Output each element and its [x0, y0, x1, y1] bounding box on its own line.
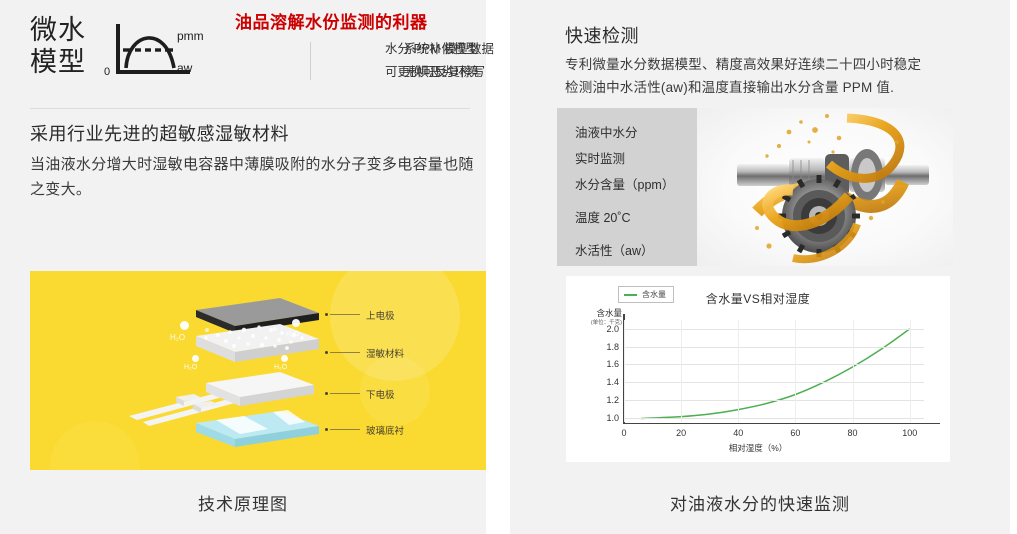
chart-y-tick: 1.0: [606, 413, 619, 423]
h2o-label: H₂O: [170, 333, 185, 342]
spec-item-3: 水分含量（ppm）: [575, 172, 735, 198]
header-divider: [30, 108, 470, 109]
headline-text: 油品溶解水份监测的利器: [235, 12, 497, 34]
chart-gridline: [624, 382, 924, 383]
left-section-title: 采用行业先进的超敏感湿敏材料: [30, 120, 480, 148]
feature-grid: 水分 PPM 模型数据 系统补偿模型 可更换可反复檫写 无惧恶劣环境: [235, 40, 497, 82]
right-section-title: 快速检测: [565, 22, 985, 50]
figure-label-1: 上电极: [366, 308, 395, 322]
chart-x-tick: 20: [676, 428, 686, 438]
chart-gridline: [624, 400, 924, 401]
chart-x-tick: 80: [848, 428, 858, 438]
feature-1-right: 系统补偿模型: [386, 40, 496, 59]
water-bubble: [273, 327, 277, 331]
chart-gridline-vertical: [738, 320, 739, 422]
chart-x-tick: 100: [902, 428, 917, 438]
left-section-text: 当油液水分增大时湿敏电容器中薄膜吸附的水分子变多电容量也随之变大。: [30, 152, 480, 202]
chart-y-tick: 1.2: [606, 395, 619, 405]
spec-item-5: 水活性（aw）: [575, 238, 735, 264]
logo-bottom-label: aw: [177, 61, 193, 75]
water-bubble: [205, 328, 209, 332]
chart-gridline: [624, 364, 924, 365]
h2o-label: H₂O: [184, 364, 197, 371]
left-caption: 技术原理图: [0, 490, 486, 515]
chart-x-tick: 0: [621, 428, 626, 438]
left-panel: 微水 模型 pmm aw 0 油品溶解水份监测的利器: [0, 0, 486, 534]
chart-plot-area: 1.01.21.41.61.82.0020406080100: [624, 320, 924, 422]
spec-item-4: 温度 20˚C: [575, 205, 735, 231]
water-bubble: [180, 321, 189, 330]
micro-water-model-curve-icon: pmm aw 0: [102, 22, 210, 84]
legend-swatch-icon: [624, 294, 637, 296]
chart-legend: 含水量: [618, 286, 674, 303]
logo-origin-label: 0: [104, 66, 110, 78]
chart-y-axis-title: 含水量: [596, 308, 622, 318]
right-header: 快速检测 专利微量水分数据模型、精度高效果好连续二十四小时稳定 检测油中水活性(…: [565, 22, 985, 99]
chart-y-tick: 1.6: [606, 359, 619, 369]
water-bubble: [281, 355, 288, 362]
figure-label-4: 玻璃底衬: [366, 423, 404, 437]
chart-gridline: [624, 347, 924, 348]
chart-gridline-vertical: [910, 320, 911, 422]
spec-item-1: 油液中水分: [575, 120, 735, 146]
chart-y-tick: 2.0: [606, 324, 619, 334]
layer-sensing-material: [196, 324, 319, 362]
sensor-layer-exploded-diagram: H₂O H₂O H₂O H₂O 上电极 湿敏材料 下电极 玻璃底衬: [30, 271, 486, 470]
logo-top-label: pmm: [177, 29, 204, 43]
right-section-text-line-1: 专利微量水分数据模型、精度高效果好连续二十四小时稳定: [565, 53, 985, 76]
right-caption: 对油液水分的快速监测: [510, 490, 1010, 515]
chart-x-axis: [623, 423, 940, 425]
chart-x-tick: 40: [733, 428, 743, 438]
chart-series-path: [624, 320, 924, 422]
oil-splash-gear-shaft-photo: [697, 108, 953, 266]
feature-divider: [310, 42, 311, 80]
figure-label-2: 湿敏材料: [366, 346, 404, 360]
chart-gridline-vertical: [853, 320, 854, 422]
figure-label-3: 下电极: [366, 387, 395, 401]
chart-x-tick: 60: [790, 428, 800, 438]
layer-glass-substrate: [196, 410, 319, 447]
left-header: 微水 模型 pmm aw 0 油品溶解水份监测的利器: [30, 14, 470, 96]
chart-gridline-vertical: [795, 320, 796, 422]
spec-box: 油液中水分 实时监测 水分含量（ppm） 温度 20˚C 水活性（aw）: [557, 108, 953, 266]
moisture-vs-humidity-chart: 含水量VS相对湿度 含水量 含水量 (单位：千克) 1.01.21.41.61.…: [566, 276, 950, 462]
h2o-label: H₂O: [286, 331, 299, 338]
chart-gridline-vertical: [624, 320, 625, 422]
chart-gridline: [624, 329, 924, 330]
headline-block: 油品溶解水份监测的利器 水分 PPM 模型数据 系统补偿模型 可更换可反复檫写 …: [235, 12, 497, 82]
chart-y-tick: 1.4: [606, 377, 619, 387]
chart-y-tick: 1.8: [606, 342, 619, 352]
legend-label: 含水量: [642, 289, 666, 300]
feature-2-right: 无惧恶劣环境: [386, 63, 496, 82]
brand-name: 微水 模型: [30, 14, 102, 78]
left-body: 采用行业先进的超敏感湿敏材料 当油液水分增大时湿敏电容器中薄膜吸附的水分子变多电…: [30, 120, 480, 202]
chart-gridline: [624, 418, 924, 419]
right-section-text-line-2: 检测油中水活性(aw)和温度直接输出水分含量 PPM 值.: [565, 76, 985, 99]
brand-line-1: 微水: [30, 14, 102, 46]
spec-item-2: 实时监测: [575, 146, 735, 172]
poster-root: 微水 模型 pmm aw 0 油品溶解水份监测的利器: [0, 0, 1017, 534]
chart-x-axis-label: 相对湿度（%）: [566, 442, 950, 454]
spec-list: 油液中水分 实时监测 水分含量（ppm） 温度 20˚C 水活性（aw）: [575, 120, 735, 264]
h2o-label: H₂O: [274, 364, 287, 371]
water-bubble: [292, 319, 300, 327]
brand-line-2: 模型: [30, 46, 102, 78]
chart-gridline-vertical: [681, 320, 682, 422]
water-bubble: [192, 355, 199, 362]
